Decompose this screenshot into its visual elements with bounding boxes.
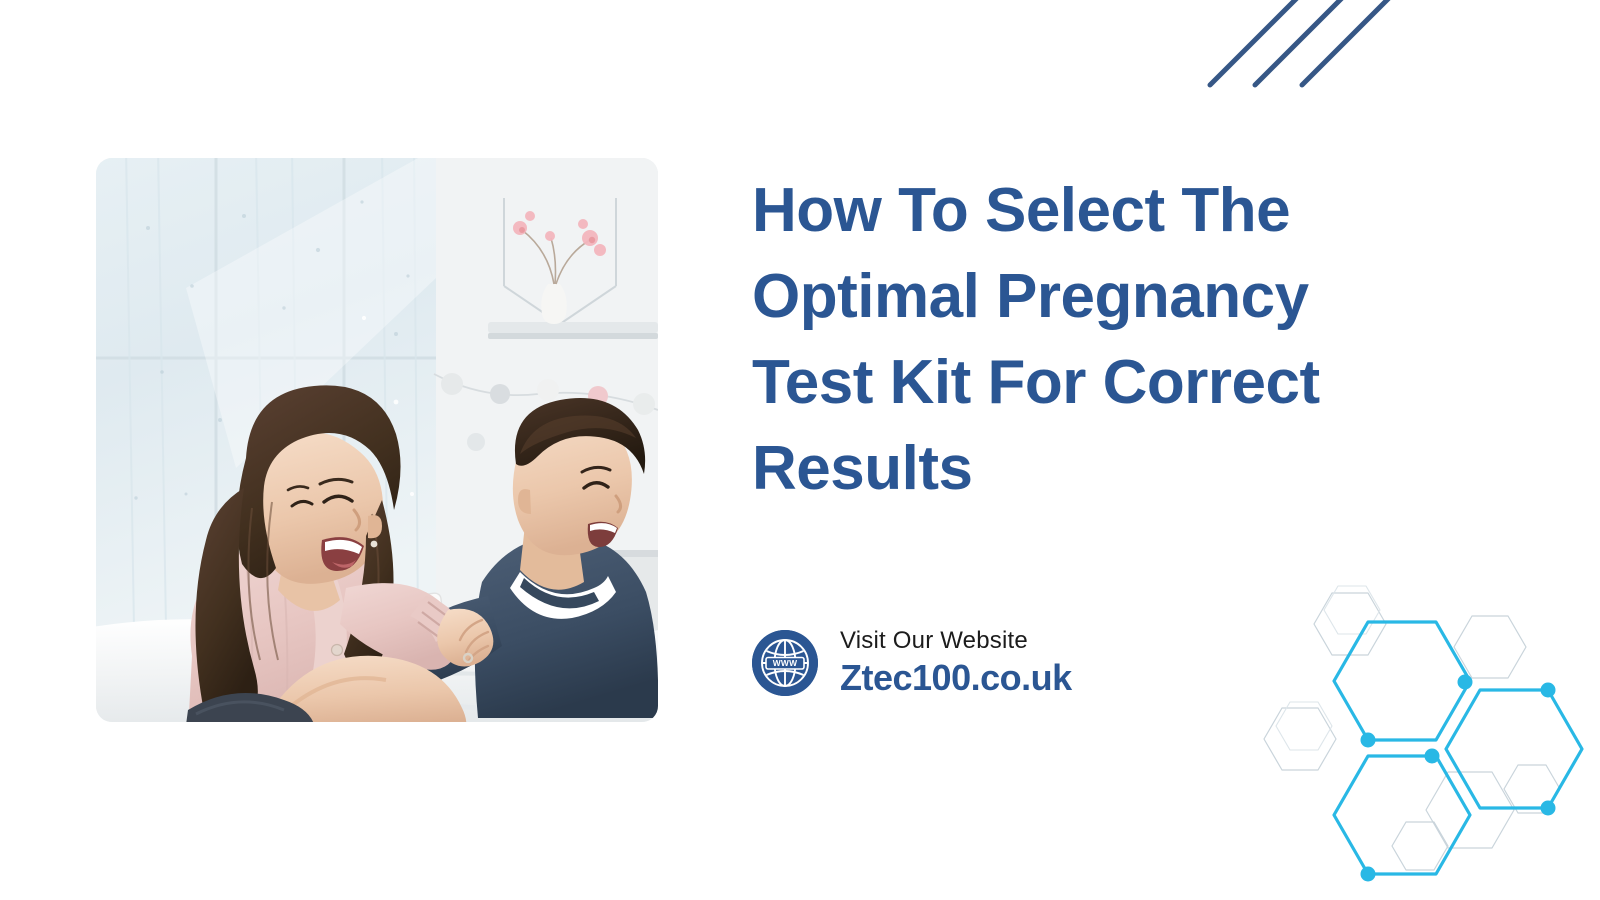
hero-photo-illustration <box>96 158 658 722</box>
hero-photo <box>96 158 658 722</box>
visit-label: Visit Our Website <box>840 626 1072 656</box>
globe-www-icon: WWW <box>752 630 818 696</box>
website-url[interactable]: Ztec100.co.uk <box>840 656 1072 700</box>
page-title: How To Select The Optimal Pregnancy Test… <box>752 168 1412 512</box>
diagonal-streaks <box>1180 0 1600 150</box>
globe-icon-graphic: WWW <box>752 630 818 696</box>
globe-www-label: WWW <box>773 658 798 668</box>
diagonal-streaks-icon <box>1180 0 1600 150</box>
poster-canvas: How To Select The Optimal Pregnancy Test… <box>0 0 1600 900</box>
hexagon-cluster <box>1240 560 1600 900</box>
website-badge-text: Visit Our Website Ztec100.co.uk <box>840 626 1072 700</box>
website-badge[interactable]: WWW Visit Our Website Ztec100.co.uk <box>752 626 1072 700</box>
hexagon-cluster-icon <box>1240 560 1600 900</box>
